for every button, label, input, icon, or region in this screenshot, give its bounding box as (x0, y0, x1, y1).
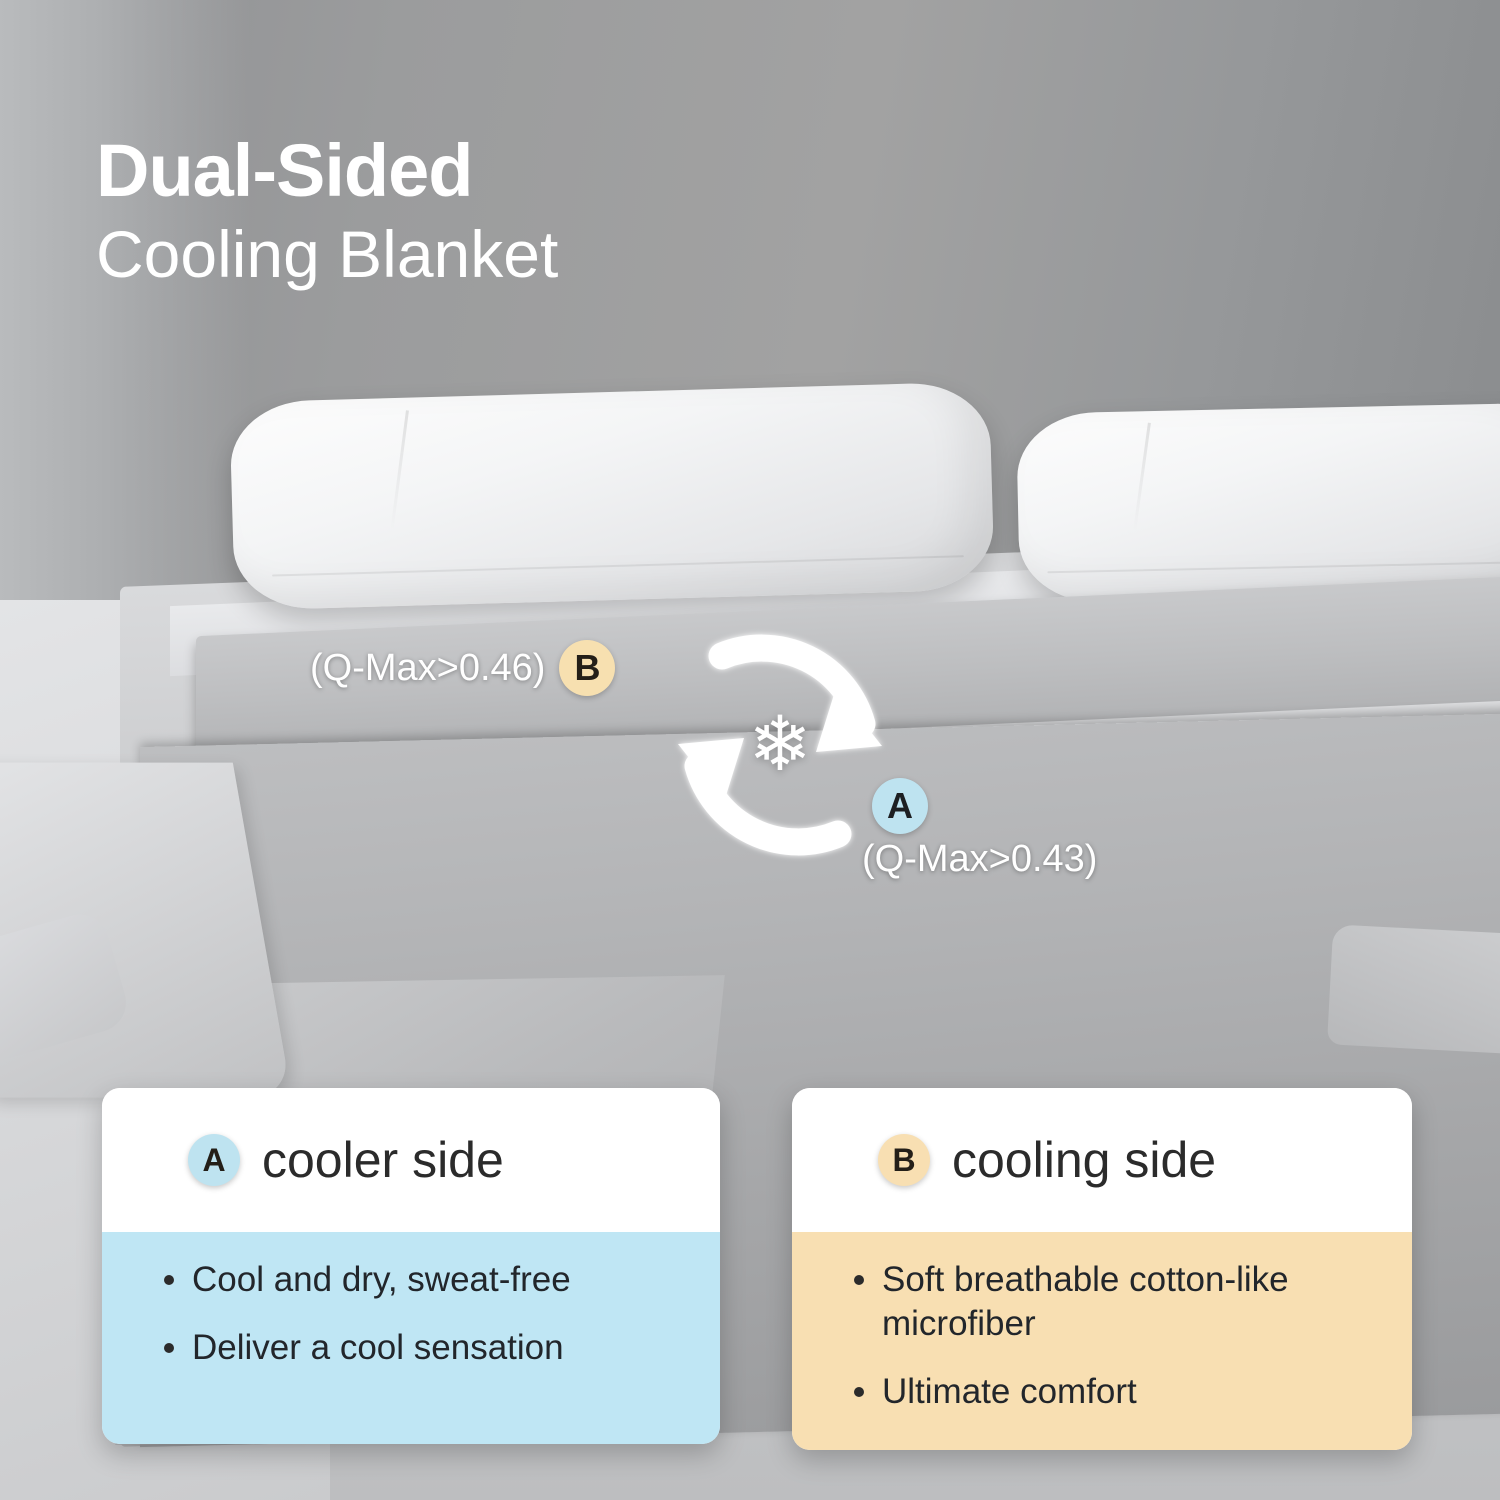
bullet-text: Ultimate comfort (882, 1370, 1137, 1414)
list-item: Cool and dry, sweat-free (164, 1258, 686, 1302)
product-marketing-image: Dual-Sided Cooling Blanket (Q-Max>0.46) … (0, 0, 1500, 1500)
pillow-crease (391, 411, 410, 531)
pillow-left (229, 381, 995, 610)
card-header-a: A cooler side (102, 1088, 720, 1232)
list-item: Soft breathable cotton-like microfiber (854, 1258, 1378, 1346)
list-item: Deliver a cool sensation (164, 1326, 686, 1370)
card-body-a: Cool and dry, sweat-free Deliver a cool … (102, 1232, 720, 1444)
bullet-dot-icon (164, 1275, 174, 1285)
card-badge-a: A (188, 1134, 240, 1186)
card-header-b: B cooling side (792, 1088, 1412, 1232)
pillow-crease (1133, 423, 1151, 533)
badge-circle-b: B (559, 640, 615, 696)
photo-label-side-b: (Q-Max>0.46) B (310, 640, 615, 696)
headline-line-2: Cooling Blanket (96, 216, 558, 294)
headline-line-1: Dual-Sided (96, 134, 558, 208)
card-body-b: Soft breathable cotton-like microfiber U… (792, 1232, 1412, 1450)
bullet-dot-icon (164, 1343, 174, 1353)
pillow-hem (272, 555, 963, 576)
pillow-right (1016, 402, 1500, 604)
blanket-right-edge (1327, 924, 1500, 1055)
qmax-value-b: (Q-Max>0.46) (310, 647, 545, 690)
bullet-text: Cool and dry, sweat-free (192, 1258, 571, 1302)
info-card-cooler-side: A cooler side Cool and dry, sweat-free D… (102, 1088, 720, 1444)
card-title-b: cooling side (952, 1131, 1216, 1189)
card-badge-b: B (878, 1134, 930, 1186)
bullet-text: Soft breathable cotton-like microfiber (882, 1258, 1332, 1346)
info-card-cooling-side: B cooling side Soft breathable cotton-li… (792, 1088, 1412, 1450)
bullet-dot-icon (854, 1387, 864, 1397)
snowflake-icon: ❄ (748, 707, 812, 783)
pillow-hem (1047, 560, 1500, 573)
bullet-dot-icon (854, 1275, 864, 1285)
card-title-a: cooler side (262, 1131, 504, 1189)
cooling-cycle-graphic: ❄ (650, 620, 910, 870)
bullet-text: Deliver a cool sensation (192, 1326, 564, 1370)
headline-block: Dual-Sided Cooling Blanket (96, 134, 558, 294)
list-item: Ultimate comfort (854, 1370, 1378, 1414)
